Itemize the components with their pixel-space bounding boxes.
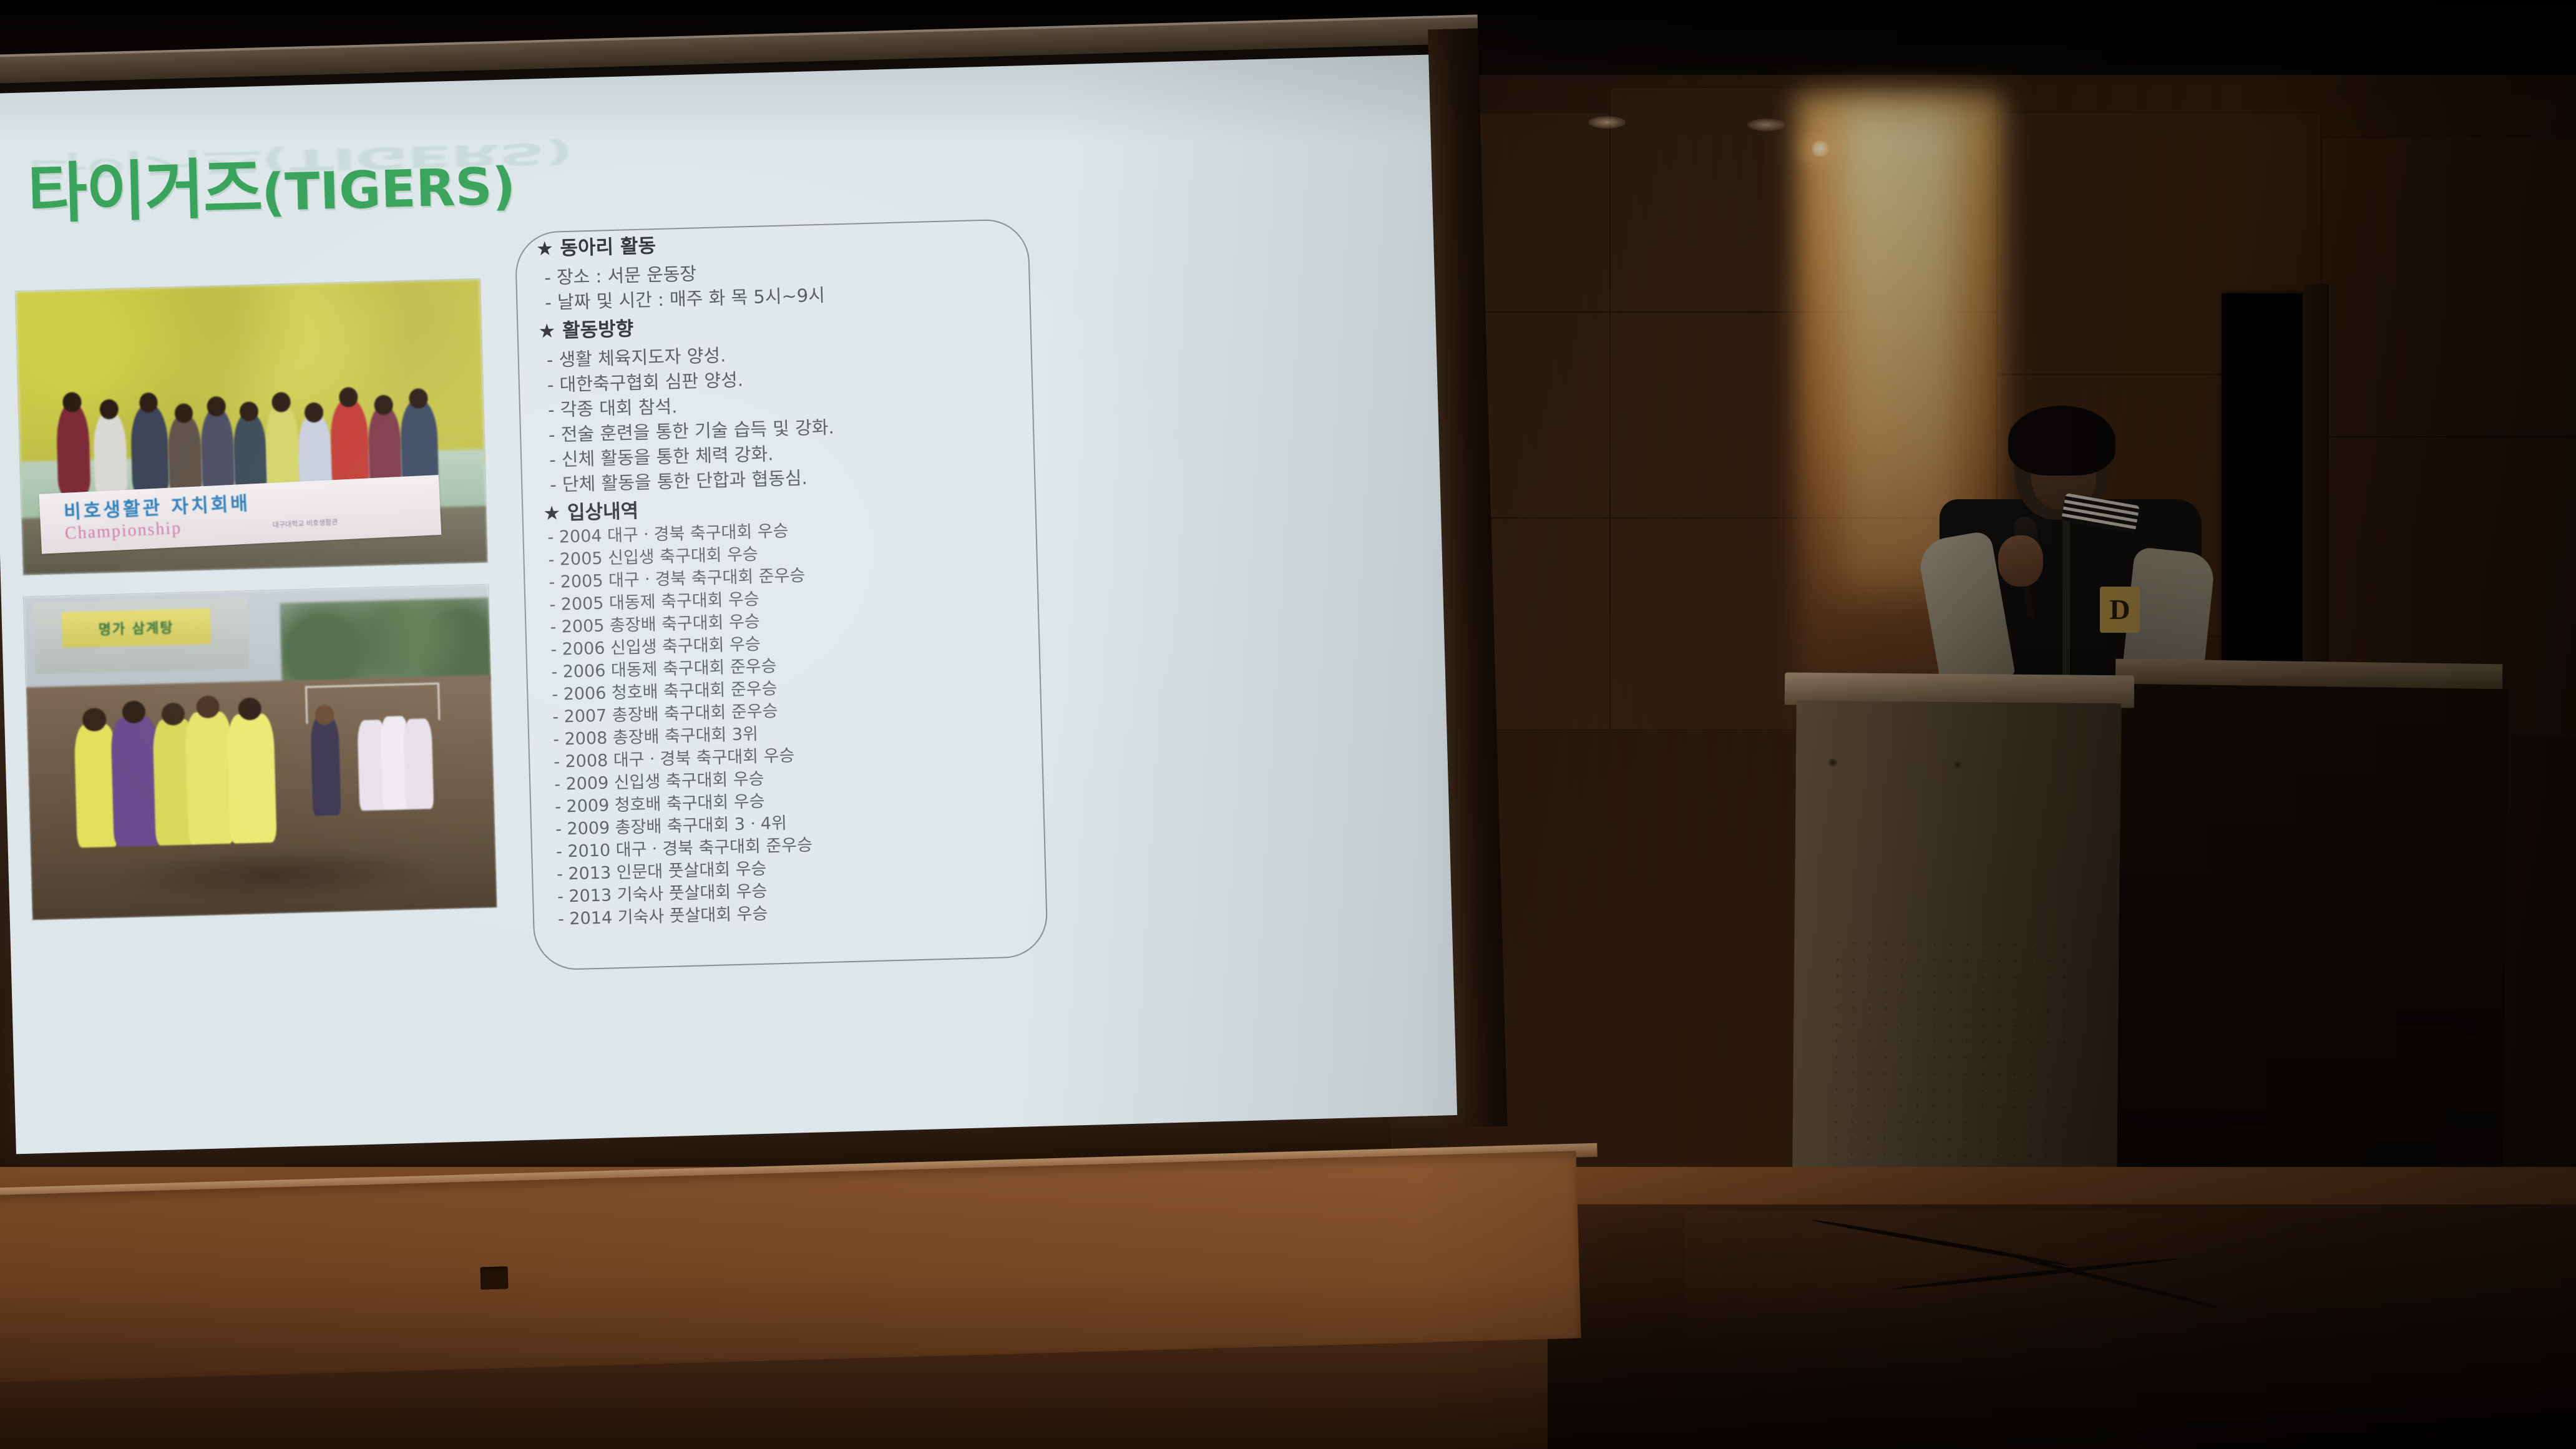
photo-player (110, 716, 160, 847)
photo-player-head (82, 708, 106, 731)
photo-referee-head (315, 705, 334, 725)
lectern-desk-body (2115, 684, 2509, 1201)
photo-person (56, 403, 90, 495)
photo-person (298, 414, 332, 491)
varsity-letter-patch: D (2100, 587, 2140, 633)
projection-screen-assembly: 타이거즈(TIGERS) 타이거즈(TIGERS) (0, 53, 1508, 1191)
photo-referee (311, 718, 341, 816)
photo-person (167, 414, 202, 495)
photo-person (233, 412, 268, 493)
slide-title-korean: 타이거즈 (27, 150, 263, 232)
ceiling-downlight (1588, 116, 1626, 129)
photo-player (227, 713, 276, 844)
photo-person-head (409, 388, 428, 409)
page-title: 타이거즈(TIGERS) (26, 128, 516, 235)
photo-ground-shadow (114, 844, 441, 905)
auditorium-scene: D 타이거즈(TIGERS) 타이거즈(TIGERS) (0, 0, 2576, 1449)
spotlight-bulb-icon (1810, 140, 1831, 157)
stage-shadow (1548, 1204, 2576, 1449)
banner-subtext: 대구대학교 비호생활관 (272, 517, 338, 530)
shop-sign-text: 명가 삼계탕 (98, 617, 174, 639)
presenter: D (1922, 406, 2222, 699)
info-panel: ★ 동아리 활동 - 장소 : 서문 운동장 - 날짜 및 시간 : 매주 화 … (534, 227, 1046, 964)
photo-person (200, 407, 235, 494)
ceiling-downlight (1747, 119, 1785, 131)
photo-person-head (62, 392, 82, 412)
match-huddle-photo: 명가 삼계탕 (24, 585, 497, 920)
team-group-photo: 비호생활관 자치회배 Championship 대구대학교 비호생활관 (16, 279, 488, 575)
stage-floor-outlet (481, 1266, 509, 1289)
photo-shop-sign: 명가 삼계탕 (61, 608, 211, 648)
lectern-screw (1828, 758, 1837, 767)
presenter-hand (1998, 535, 2043, 587)
photo-person-head (271, 392, 291, 412)
projection-screen: 타이거즈(TIGERS) 타이거즈(TIGERS) (0, 55, 1457, 1154)
photo-player (185, 711, 235, 844)
photo-person-head (374, 395, 393, 416)
presenter-hair (2008, 406, 2115, 476)
photo-trees (280, 597, 491, 687)
slide: 타이거즈(TIGERS) 타이거즈(TIGERS) (0, 55, 1457, 1154)
lectern-perforated-panel (1827, 935, 2067, 1199)
photo-opponent (404, 718, 434, 809)
photo-person (330, 398, 370, 490)
slide-title-english: (TIGERS) (261, 157, 516, 223)
banner-korean-text: 비호생활관 자치회배 (63, 487, 251, 524)
lectern-screw (1953, 761, 1962, 769)
